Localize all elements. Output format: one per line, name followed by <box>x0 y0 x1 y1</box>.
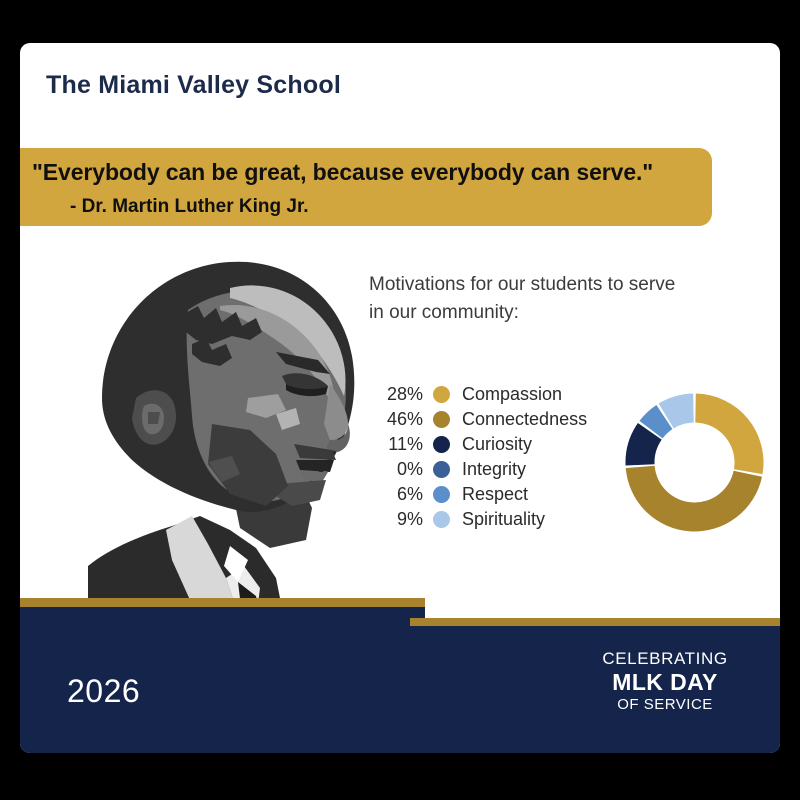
legend-item: 0% Integrity <box>369 457 589 482</box>
legend-swatch-icon <box>433 386 450 403</box>
legend-percent: 11% <box>369 434 433 455</box>
legend-swatch-icon <box>433 411 450 428</box>
legend-item: 11% Curiosity <box>369 432 589 457</box>
chart-legend: 28% Compassion 46% Connectedness 11% Cur… <box>369 382 589 532</box>
legend-label: Respect <box>450 484 528 505</box>
poster-card: The Miami Valley School "Everybody can b… <box>20 43 780 753</box>
legend-percent: 9% <box>369 509 433 530</box>
of-service-label: OF SERVICE <box>575 695 755 714</box>
legend-label: Integrity <box>450 459 526 480</box>
chart-heading: Motivations for our students to serve in… <box>369 271 689 327</box>
mlk-day-lockup: CELEBRATING MLK DAY OF SERVICE <box>575 648 755 714</box>
legend-label: Compassion <box>450 384 562 405</box>
celebrating-label: CELEBRATING <box>575 648 755 669</box>
legend-label: Curiosity <box>450 434 532 455</box>
gold-stripe-right <box>410 618 780 626</box>
year-label: 2026 <box>67 673 140 710</box>
mlk-portrait-image <box>80 248 390 648</box>
legend-percent: 6% <box>369 484 433 505</box>
legend-item: 9% Spirituality <box>369 507 589 532</box>
legend-swatch-icon <box>433 511 450 528</box>
legend-percent: 28% <box>369 384 433 405</box>
legend-percent: 46% <box>369 409 433 430</box>
legend-item: 6% Respect <box>369 482 589 507</box>
legend-percent: 0% <box>369 459 433 480</box>
legend-swatch-icon <box>433 436 450 453</box>
donut-chart <box>617 385 772 540</box>
legend-item: 46% Connectedness <box>369 407 589 432</box>
quote-banner: "Everybody can be great, because everybo… <box>20 148 712 226</box>
page-title: The Miami Valley School <box>46 71 341 100</box>
donut-segment-connectedness <box>626 466 762 532</box>
legend-swatch-icon <box>433 486 450 503</box>
legend-item: 28% Compassion <box>369 382 589 407</box>
mlk-day-label: MLK DAY <box>575 669 755 695</box>
quote-attribution: - Dr. Martin Luther King Jr. <box>70 196 309 218</box>
legend-label: Connectedness <box>450 409 587 430</box>
legend-swatch-icon <box>433 461 450 478</box>
gold-stripe-left <box>20 598 425 607</box>
donut-segment-compassion <box>695 394 763 475</box>
legend-label: Spirituality <box>450 509 545 530</box>
quote-text: "Everybody can be great, because everybo… <box>32 159 653 186</box>
